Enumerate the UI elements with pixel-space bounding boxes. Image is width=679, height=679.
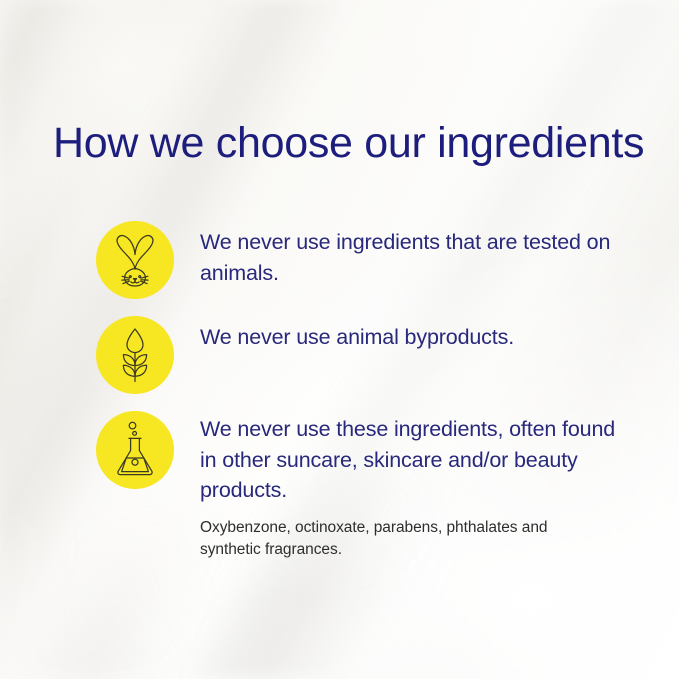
list-item-label: We never use these ingredients, often fo… [200,414,620,506]
plant-sprig-icon [96,316,174,394]
fineprint-disclaimer: Oxybenzone, octinoxate, parabens, phthal… [200,517,600,561]
ingredient-philosophy-graphic: How we choose our ingredients [0,0,679,679]
bunny-heart-ears-icon [96,221,174,299]
page-title: How we choose our ingredients [53,120,644,166]
list-item-label: We never use ingredients that are tested… [200,227,620,288]
list-item-label: We never use animal byproducts. [200,322,620,353]
erlenmeyer-flask-icon [96,411,174,489]
